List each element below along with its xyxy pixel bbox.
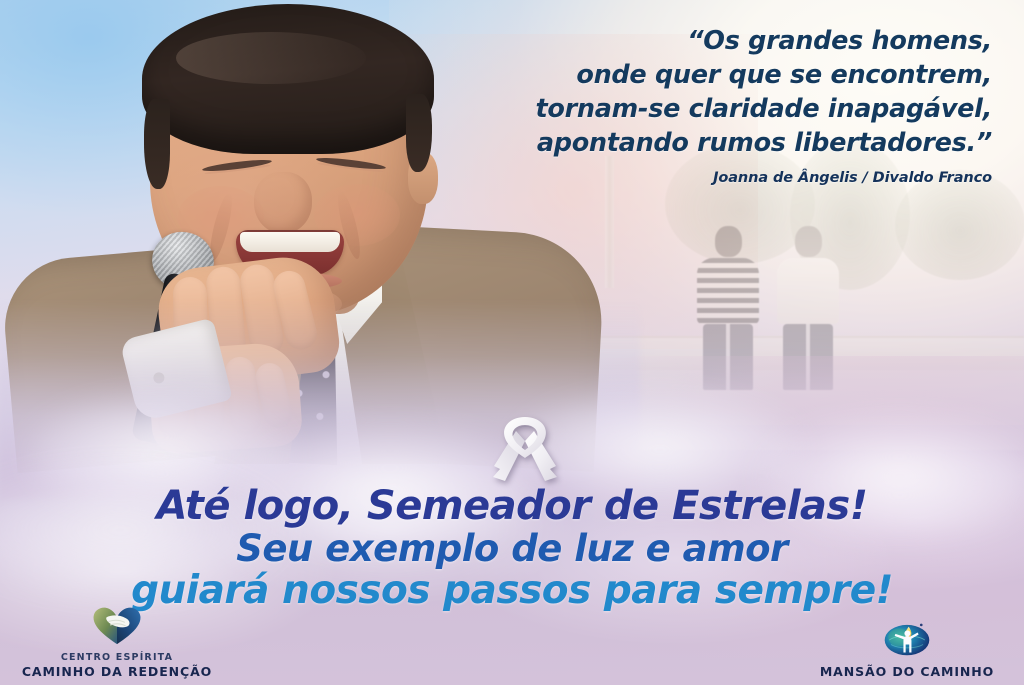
quote-line-2: onde quer que se encontrem, [430,58,992,92]
sideburn-left [144,99,170,189]
mourning-ribbon [489,411,561,487]
heart-hands-icon [12,605,222,650]
nose [254,172,312,234]
quote-block: “Os grandes homens, onde quer que se enc… [430,24,992,186]
headline-line-2: Seu exemplo de luz e amor [0,528,1024,569]
logo-right-line-1: MANSÃO DO CAMINHO [802,664,1012,679]
quote-line-1: “Os grandes homens, [430,24,992,58]
logo-mansao-do-caminho[interactable]: MANSÃO DO CAMINHO [802,616,1012,679]
headline-block: Até logo, Semeador de Estrelas! Seu exem… [0,484,1024,612]
teeth [240,232,340,252]
logo-left-line-1: CENTRO ESPÍRITA [12,652,222,664]
quote-attribution: Joanna de Ângelis / Divaldo Franco [430,170,992,186]
logo-centro-espirita[interactable]: CENTRO ESPÍRITA CAMINHO DA REDENÇÃO [12,605,222,679]
quote-line-4: apontando rumos libertadores.” [430,126,992,160]
globe-figure-flame-icon [802,616,1012,662]
quote-line-3: tornam-se claridade inapagável, [430,92,992,126]
foliage-shape [895,170,1024,280]
hair [142,4,434,154]
logo-left-line-2: CAMINHO DA REDENÇÃO [12,664,222,679]
person-head [795,226,822,257]
person-torso [697,258,759,324]
sideburn-right [406,94,432,172]
person-head [715,226,742,257]
headline-line-1: Até logo, Semeador de Estrelas! [0,484,1024,528]
memorial-poster: “Os grandes homens, onde quer que se enc… [0,0,1024,685]
person-torso [777,258,839,324]
